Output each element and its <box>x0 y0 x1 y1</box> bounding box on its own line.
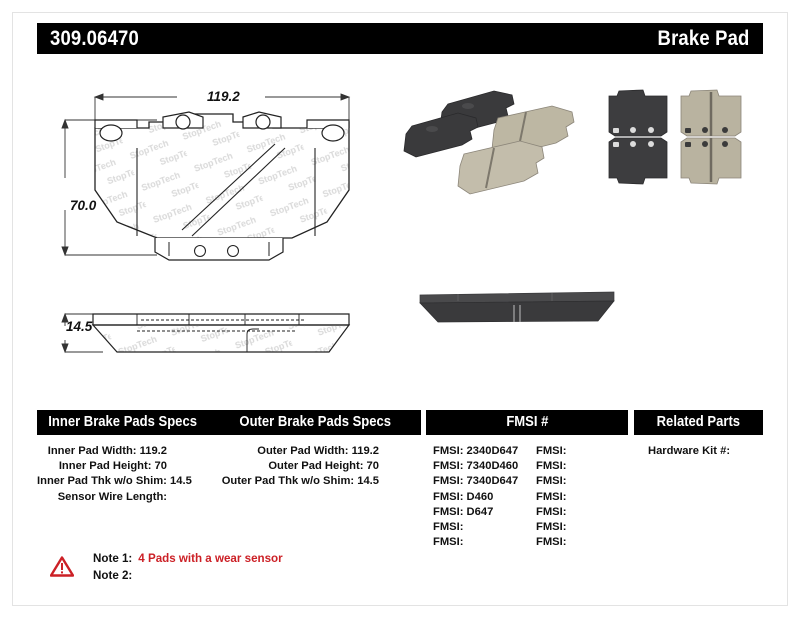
column-related-parts: Related Parts Hardware Kit #: <box>634 410 763 542</box>
specs-table: Inner Brake Pads Specs Inner Pad Width: … <box>37 410 763 542</box>
notes-section: Note 1:4 Pads with a wear sensor Note 2: <box>50 552 550 597</box>
fmsi-row: FMSI: FMSI: <box>433 535 628 550</box>
fmsi-left: FMSI: 7340D460 <box>433 459 536 474</box>
spec-row: Outer Pad Width: 119.2 <box>209 444 379 459</box>
drawing-area: StopTech StopTech <box>37 70 763 390</box>
spec-row: Inner Pad Width: 119.2 <box>37 444 167 459</box>
fmsi-row: FMSI: 2340D647 FMSI: <box>433 444 628 459</box>
dimension-thickness-label: 14.5 <box>66 319 92 334</box>
column-body-outer-specs: Outer Pad Width: 119.2 Outer Pad Height:… <box>209 435 421 490</box>
note-1-label: Note 1: <box>93 552 132 565</box>
spec-row: Outer Pad Thk w/o Shim: 14.5 <box>209 474 379 489</box>
note-2-row: Note 2: <box>93 569 138 582</box>
note-1-value: 4 Pads with a wear sensor <box>138 552 282 565</box>
fmsi-left: FMSI: 2340D647 <box>433 444 536 459</box>
fmsi-right: FMSI: <box>536 459 616 474</box>
edge-profile-photo <box>402 275 632 335</box>
fmsi-right: FMSI: <box>536 444 616 459</box>
spec-row: Sensor Wire Length: <box>37 490 167 505</box>
spec-row: Inner Pad Height: 70 <box>37 459 167 474</box>
column-header-fmsi: FMSI # <box>426 410 628 435</box>
dimension-width-label: 119.2 <box>207 89 240 104</box>
spec-row: Inner Pad Thk w/o Shim: 14.5 <box>37 474 167 489</box>
fmsi-left: FMSI: D647 <box>433 505 536 520</box>
spec-row: Outer Pad Height: 70 <box>209 459 379 474</box>
fmsi-right: FMSI: <box>536 490 616 505</box>
product-type-label: Brake Pad <box>658 27 750 51</box>
fmsi-row: FMSI: 7340D460 FMSI: <box>433 459 628 474</box>
fmsi-left: FMSI: <box>433 535 536 550</box>
fmsi-right: FMSI: <box>536 520 616 535</box>
column-body-inner-specs: Inner Pad Width: 119.2 Inner Pad Height:… <box>37 435 209 505</box>
fmsi-left: FMSI: 7340D647 <box>433 474 536 489</box>
column-outer-specs: Outer Brake Pads Specs Outer Pad Width: … <box>209 410 421 542</box>
header-bar: 309.06470 Brake Pad <box>37 23 763 54</box>
note-2-label: Note 2: <box>93 569 132 582</box>
flatlay-pads-photo <box>589 82 774 197</box>
warning-triangle-icon <box>50 556 74 577</box>
fmsi-left: FMSI: D460 <box>433 490 536 505</box>
dimension-height-label: 70.0 <box>70 198 96 213</box>
front-view-drawing: StopTech StopTech <box>37 70 397 300</box>
spec-row: Hardware Kit #: <box>648 444 763 459</box>
part-number: 309.06470 <box>50 27 139 51</box>
fmsi-left: FMSI: <box>433 520 536 535</box>
fmsi-row: FMSI: 7340D647 FMSI: <box>433 474 628 489</box>
fmsi-right: FMSI: <box>536 505 616 520</box>
column-body-fmsi: FMSI: 2340D647 FMSI: FMSI: 7340D460 FMSI… <box>426 435 628 550</box>
fmsi-right: FMSI: <box>536 535 616 550</box>
fmsi-right: FMSI: <box>536 474 616 489</box>
angled-pads-photo <box>402 82 602 202</box>
fmsi-row: FMSI: FMSI: <box>433 520 628 535</box>
fmsi-row: FMSI: D647 FMSI: <box>433 505 628 520</box>
note-1-row: Note 1:4 Pads with a wear sensor <box>93 552 283 565</box>
column-header-related-parts: Related Parts <box>634 410 763 435</box>
side-view-drawing <box>37 298 397 388</box>
column-body-related-parts: Hardware Kit #: <box>634 435 763 459</box>
column-inner-specs: Inner Brake Pads Specs Inner Pad Width: … <box>37 410 209 542</box>
fmsi-row: FMSI: D460 FMSI: <box>433 490 628 505</box>
column-header-outer-specs: Outer Brake Pads Specs <box>209 410 421 435</box>
column-fmsi: FMSI # FMSI: 2340D647 FMSI: FMSI: 7340D4… <box>426 410 628 542</box>
column-header-inner-specs: Inner Brake Pads Specs <box>37 410 209 435</box>
